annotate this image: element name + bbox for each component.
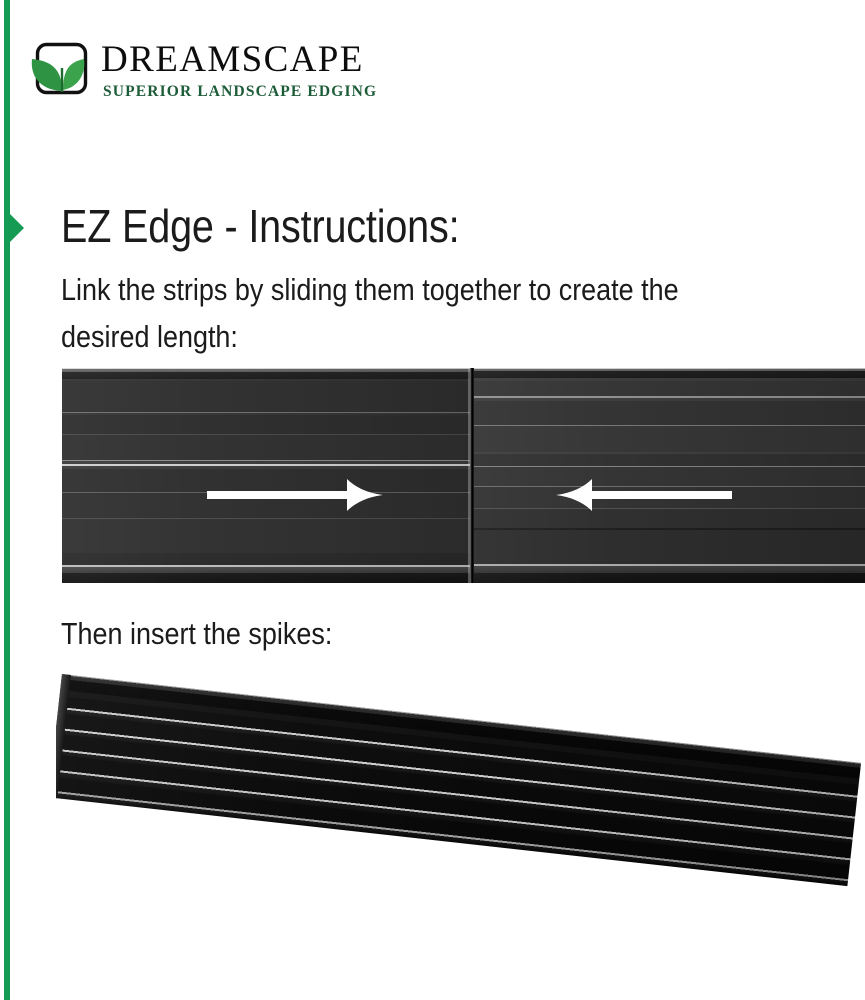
strip-end-cap: [56, 674, 71, 798]
brand-wordmark: DREAMSCAPE SUPERIOR LANDSCAPE EDGING: [101, 38, 431, 101]
brand-logo: DREAMSCAPE SUPERIOR LANDSCAPE EDGING: [29, 38, 429, 116]
left-green-rail: [4, 0, 10, 1000]
arrow-right-icon: [207, 473, 407, 485]
arrow-left-icon: [532, 473, 732, 485]
step-one-instruction: Link the strips by sliding them together…: [61, 266, 766, 360]
strip-sheen-angled: [56, 674, 861, 886]
two-leaves-in-rounded-square-icon: [29, 40, 91, 102]
edging-strip-angled: [56, 674, 861, 886]
instruction-page: DREAMSCAPE SUPERIOR LANDSCAPE EDGING EZ …: [0, 0, 865, 1000]
step-two-instruction: Then insert the spikes:: [61, 613, 332, 655]
figure-insert-spike: [56, 660, 865, 1000]
brand-name: DREAMSCAPE: [101, 38, 431, 82]
page-title: EZ Edge - Instructions:: [61, 198, 459, 254]
strip-seam: [470, 368, 474, 583]
brand-tagline: SUPERIOR LANDSCAPE EDGING: [101, 82, 431, 101]
triangle-right-icon: [9, 213, 24, 243]
figure-link-strips: [62, 368, 865, 583]
